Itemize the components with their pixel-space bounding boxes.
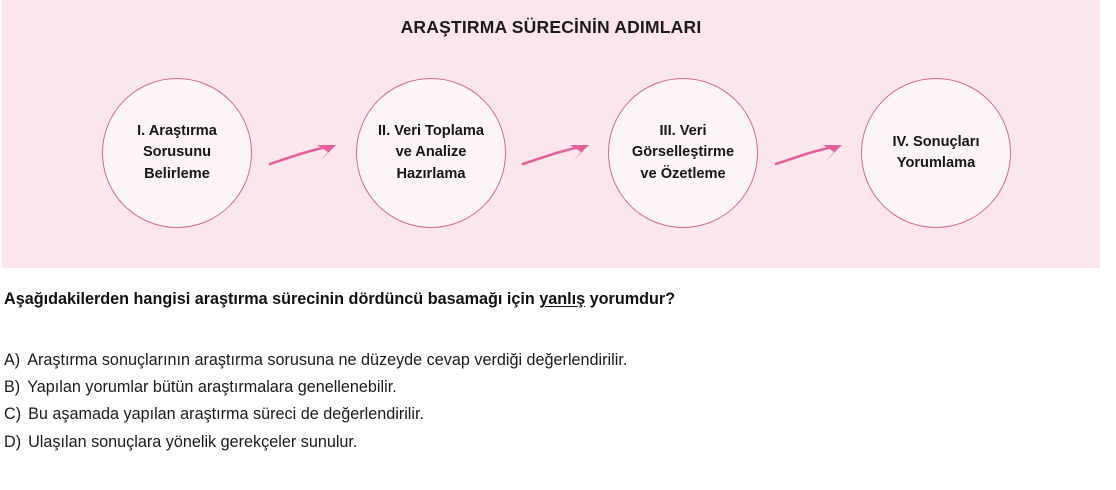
process-step-3-label: III. Veri Görselleştirme ve Özetleme xyxy=(624,121,742,185)
process-step-3: III. Veri Görselleştirme ve Özetleme xyxy=(608,78,758,228)
answer-option-d-key: D) xyxy=(4,434,21,450)
answer-option-b-text: Yapılan yorumlar bütün araştırmalara gen… xyxy=(27,379,397,395)
question-text-emphasis: yanlış xyxy=(539,290,585,308)
question-text-after: yorumdur? xyxy=(585,290,675,308)
arrow-right-icon-step3-step4 xyxy=(774,128,860,182)
answer-option-c-text: Bu aşamada yapılan araştırma süreci de d… xyxy=(28,406,424,422)
answer-option-a-text: Araştırma sonuçlarının araştırma sorusun… xyxy=(27,352,627,368)
process-step-2: II. Veri Toplama ve Analize Hazırlama xyxy=(356,78,506,228)
process-step-2-label: II. Veri Toplama ve Analize Hazırlama xyxy=(370,121,492,185)
research-process-diagram: ARAŞTIRMA SÜRECİNİN ADIMLARI I. Araştırm… xyxy=(2,0,1100,268)
process-step-1: I. Araştırma Sorusunu Belirleme xyxy=(102,78,252,228)
answer-options-list: A) Araştırma sonuçlarının araştırma soru… xyxy=(4,352,1104,461)
answer-option-a-key: A) xyxy=(4,352,20,368)
process-step-4-label: IV. Sonuçları Yorumlama xyxy=(884,132,987,175)
question-block: Aşağıdakilerden hangisi araştırma süreci… xyxy=(4,289,1104,310)
page-root: ARAŞTIRMA SÜRECİNİN ADIMLARI I. Araştırm… xyxy=(0,0,1116,490)
answer-option-d-text: Ulaşılan sonuçlara yönelik gerekçeler su… xyxy=(28,434,357,450)
arrow-right-icon-step1-step2 xyxy=(268,128,354,182)
question-text: Aşağıdakilerden hangisi araştırma süreci… xyxy=(4,289,1104,310)
answer-option-d[interactable]: D) Ulaşılan sonuçlara yönelik gerekçeler… xyxy=(4,434,1104,450)
process-step-4: IV. Sonuçları Yorumlama xyxy=(861,78,1011,228)
answer-option-b[interactable]: B) Yapılan yorumlar bütün araştırmalara … xyxy=(4,379,1104,395)
answer-option-c[interactable]: C) Bu aşamada yapılan araştırma süreci d… xyxy=(4,406,1104,422)
answer-option-a[interactable]: A) Araştırma sonuçlarının araştırma soru… xyxy=(4,352,1104,368)
arrow-right-icon-step2-step3 xyxy=(521,128,607,182)
process-step-1-label: I. Araştırma Sorusunu Belirleme xyxy=(129,121,225,185)
answer-option-b-key: B) xyxy=(4,379,20,395)
diagram-title: ARAŞTIRMA SÜRECİNİN ADIMLARI xyxy=(2,17,1100,38)
answer-option-c-key: C) xyxy=(4,406,21,422)
question-text-before: Aşağıdakilerden hangisi araştırma süreci… xyxy=(4,290,539,308)
